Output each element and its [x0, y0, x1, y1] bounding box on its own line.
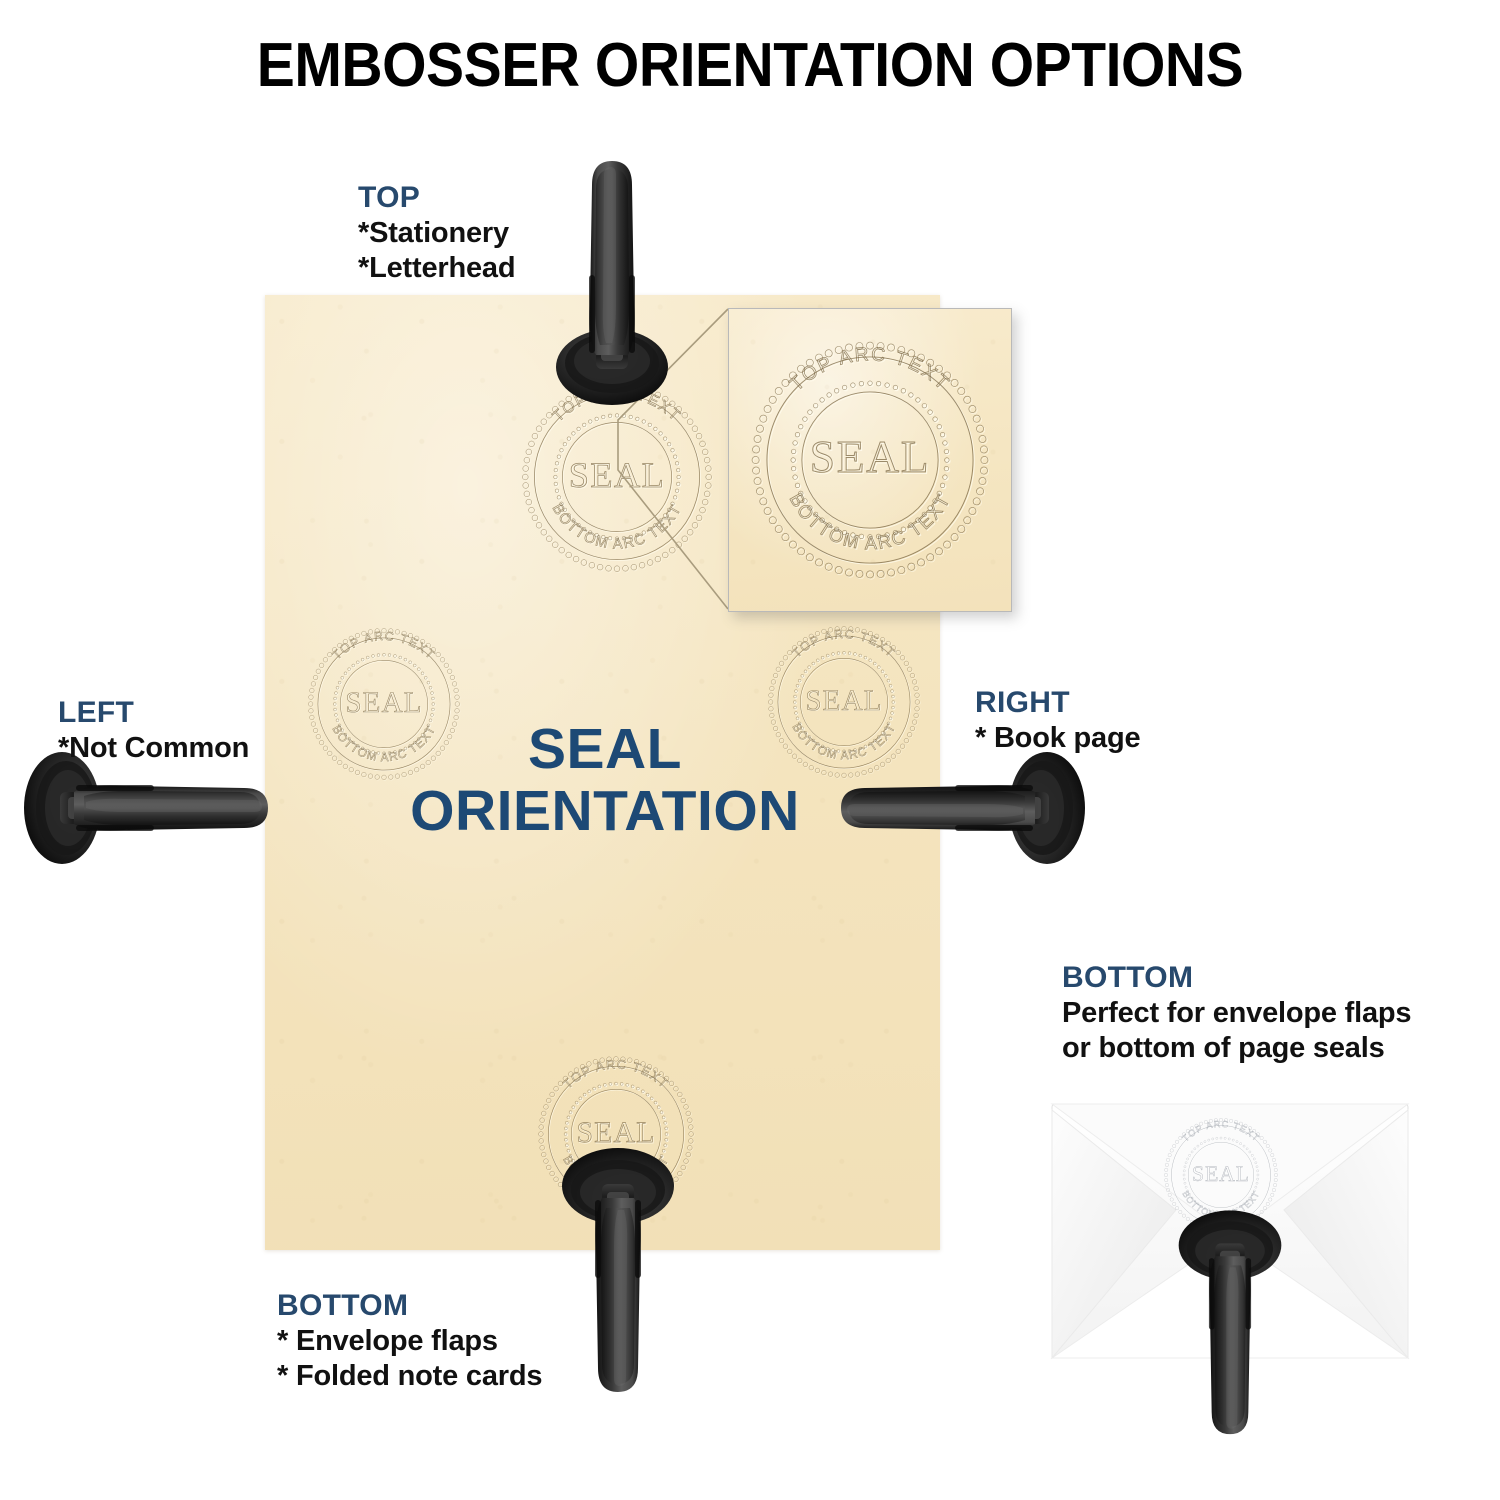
label-bottom-left-line-0: * Envelope flaps [277, 1324, 542, 1359]
label-left-head: LEFT [58, 695, 249, 731]
label-top-head: TOP [358, 180, 515, 216]
page-title: EMBOSSER ORIENTATION OPTIONS [60, 30, 1440, 102]
label-left: LEFT *Not Common [58, 695, 249, 766]
label-top-line-0: *Stationery [358, 216, 515, 251]
label-left-line-0: *Not Common [58, 731, 249, 766]
label-bottom-right-head: BOTTOM [1062, 960, 1411, 996]
label-right-line-0: * Book page [975, 721, 1140, 756]
center-caption-line1: SEAL [355, 718, 855, 780]
label-right: RIGHT * Book page [975, 685, 1140, 756]
label-right-head: RIGHT [975, 685, 1140, 721]
center-caption-line2: ORIENTATION [355, 780, 855, 842]
label-top-line-1: *Letterhead [358, 251, 515, 286]
magnified-seal-panel: TOP ARC TEXTBOTTOM ARC TEXTSEALTOP ARC T… [728, 308, 1012, 612]
infographic-canvas: EMBOSSER ORIENTATION OPTIONS [0, 0, 1500, 1500]
label-bottom-right-line-1: or bottom of page seals [1062, 1031, 1411, 1066]
label-top: TOP *Stationery *Letterhead [358, 180, 515, 286]
center-caption: SEAL ORIENTATION [355, 718, 855, 842]
label-bottom-right: BOTTOM Perfect for envelope flaps or bot… [1062, 960, 1411, 1066]
label-bottom-left-line-1: * Folded note cards [277, 1359, 542, 1394]
label-bottom-right-line-0: Perfect for envelope flaps [1062, 996, 1411, 1031]
embosser-tool-left [24, 748, 274, 868]
label-bottom-left: BOTTOM * Envelope flaps * Folded note ca… [277, 1288, 542, 1394]
envelope-illustration: TOP ARC TEXTBOTTOM ARC TEXTSEALTOP ARC T… [1050, 1100, 1410, 1362]
label-bottom-left-head: BOTTOM [277, 1288, 542, 1324]
callout-grain-texture [729, 309, 1011, 611]
